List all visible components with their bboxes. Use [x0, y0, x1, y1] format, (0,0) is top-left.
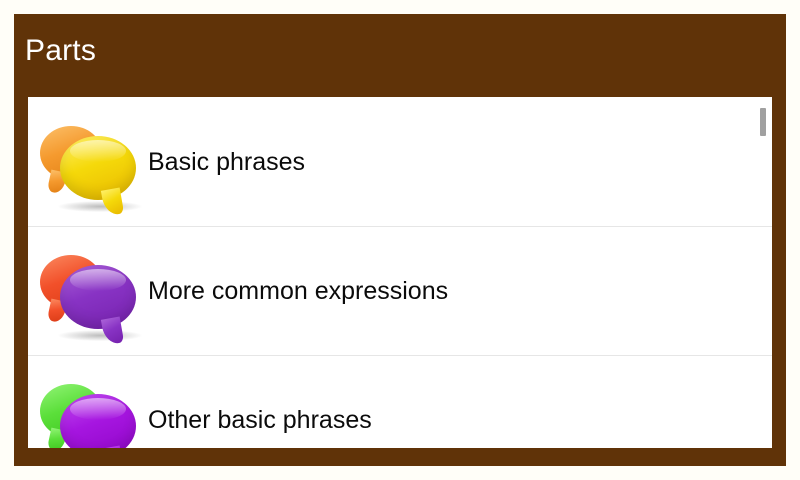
speech-bubbles-icon [34, 110, 144, 214]
icon-shadow [58, 201, 142, 212]
list-item[interactable]: Other basic phrases [28, 355, 772, 448]
speech-bubbles-icon [34, 239, 144, 343]
page-title: Parts [25, 34, 96, 68]
speech-bubbles-icon [34, 368, 144, 448]
list-item[interactable]: Basic phrases [28, 97, 772, 226]
list-item-label: More common expressions [148, 276, 448, 306]
scrollbar-track[interactable] [759, 97, 769, 448]
title-bar: Parts [14, 14, 786, 97]
scrollbar-thumb[interactable] [760, 108, 766, 136]
bubble-front-shape [60, 265, 136, 329]
parts-list: Basic phrases More common expressions [28, 97, 772, 448]
bubble-front-shape [60, 136, 136, 200]
list-item-label: Other basic phrases [148, 405, 372, 435]
icon-shadow [58, 330, 142, 341]
list-item[interactable]: More common expressions [28, 226, 772, 355]
list-panel: Basic phrases More common expressions [28, 97, 772, 448]
list-item-label: Basic phrases [148, 147, 305, 177]
bubble-front-shape [60, 394, 136, 448]
app-window: Parts Basic phrases [14, 14, 786, 466]
